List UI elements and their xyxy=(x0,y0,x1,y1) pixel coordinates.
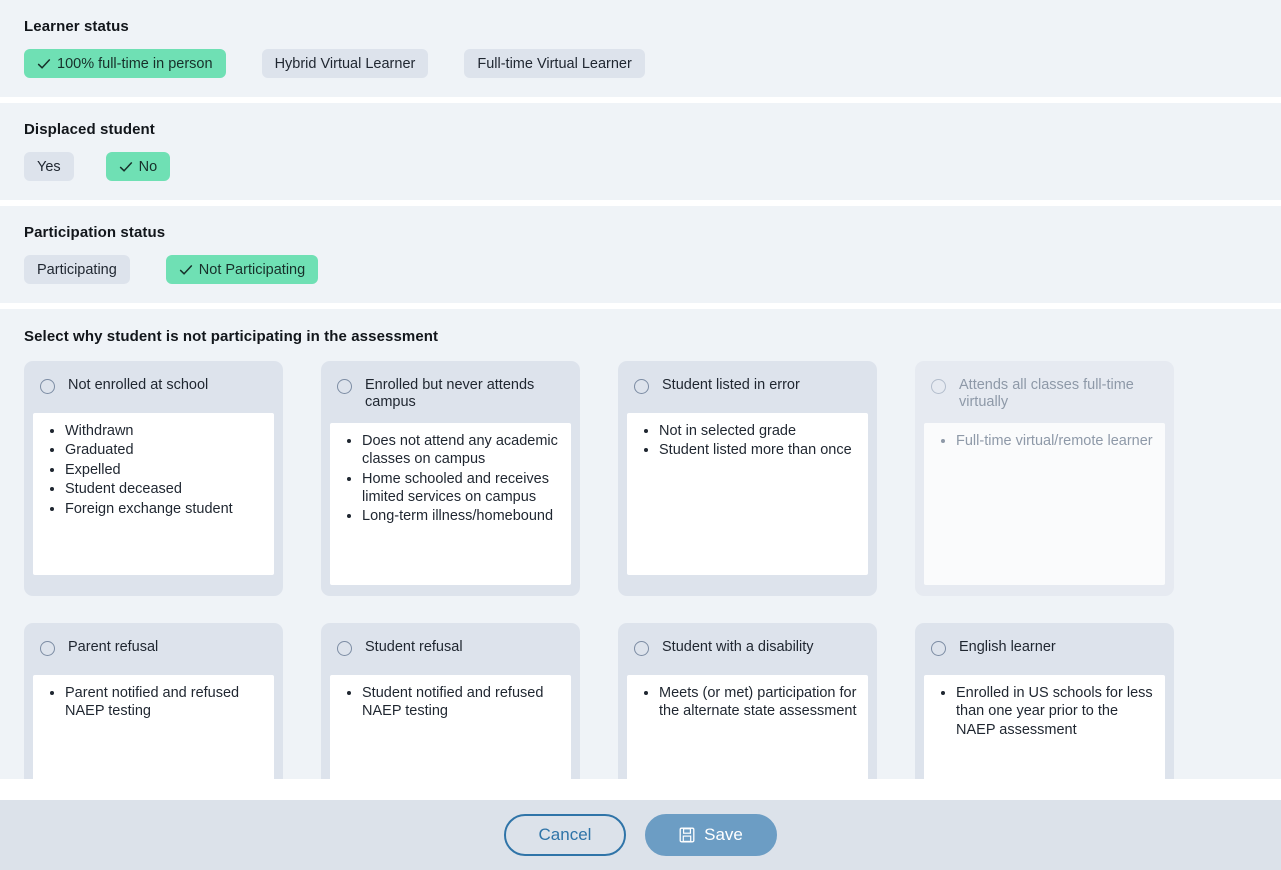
reason-card-body: Full-time virtual/remote learner xyxy=(924,423,1165,585)
learner_status-option-hybrid-virtual-learner[interactable]: Hybrid Virtual Learner xyxy=(262,49,429,78)
pill-label: Hybrid Virtual Learner xyxy=(275,56,416,72)
reason-card-header: Enrolled but never attends campus xyxy=(330,370,571,423)
participation_status-option-not-participating[interactable]: Not Participating xyxy=(166,255,318,284)
save-button[interactable]: Save xyxy=(645,814,777,856)
learner_status-option-100-full-time-in-person[interactable]: 100% full-time in person xyxy=(24,49,226,78)
reason-card-header: English learner xyxy=(924,632,1165,675)
learner-status-options: 100% full-time in personHybrid Virtual L… xyxy=(24,49,1257,78)
displaced-student-section: Displaced student YesNo xyxy=(0,103,1281,200)
list-item: Student notified and refused NAEP testin… xyxy=(362,684,561,721)
reason-card-body: Does not attend any academic classes on … xyxy=(330,423,571,585)
reason-card-label: Student listed in error xyxy=(662,377,800,394)
save-button-label: Save xyxy=(704,825,743,845)
reason-card[interactable]: Enrolled but never attends campusDoes no… xyxy=(321,361,580,596)
participation-form-page: Learner status 100% full-time in personH… xyxy=(0,0,1281,870)
reason-card-body: Parent notified and refused NAEP testing xyxy=(33,675,274,779)
reason-card[interactable]: Student refusalStudent notified and refu… xyxy=(321,623,580,779)
reason-card-body: Enrolled in US schools for less than one… xyxy=(924,675,1165,779)
radio-button-icon[interactable] xyxy=(634,641,649,656)
reason-card-body: Student notified and refused NAEP testin… xyxy=(330,675,571,779)
reason-card-header: Student refusal xyxy=(330,632,571,675)
reason-card: Attends all classes full-time virtuallyF… xyxy=(915,361,1174,596)
reason-card-grid: Not enrolled at schoolWithdrawnGraduated… xyxy=(24,361,1257,779)
reason-card[interactable]: Not enrolled at schoolWithdrawnGraduated… xyxy=(24,361,283,596)
reason-card-body: WithdrawnGraduatedExpelledStudent deceas… xyxy=(33,413,274,575)
pill-label: No xyxy=(139,159,158,175)
check-icon xyxy=(179,263,192,276)
reason-detail-list: Not in selected gradeStudent listed more… xyxy=(637,422,858,460)
displaced_student-option-yes[interactable]: Yes xyxy=(24,152,74,181)
learner-status-title: Learner status xyxy=(24,18,1257,35)
reason-card-header: Attends all classes full-time virtually xyxy=(924,370,1165,423)
participation-status-section: Participation status ParticipatingNot Pa… xyxy=(0,206,1281,303)
list-item: Expelled xyxy=(65,461,264,479)
learner_status-option-full-time-virtual-learner[interactable]: Full-time Virtual Learner xyxy=(464,49,644,78)
reasons-title: Select why student is not participating … xyxy=(24,328,1257,345)
check-icon xyxy=(119,160,132,173)
reason-card[interactable]: Student listed in errorNot in selected g… xyxy=(618,361,877,596)
list-item: Long-term illness/homebound xyxy=(362,507,561,525)
reason-card-label: Not enrolled at school xyxy=(68,377,208,394)
learner-status-section: Learner status 100% full-time in personH… xyxy=(0,0,1281,97)
list-item: Parent notified and refused NAEP testing xyxy=(65,684,264,721)
radio-button-icon[interactable] xyxy=(40,641,55,656)
reason-card-label: English learner xyxy=(959,639,1056,656)
reason-card-header: Not enrolled at school xyxy=(33,370,274,413)
check-icon xyxy=(37,57,50,70)
list-item: Meets (or met) participation for the alt… xyxy=(659,684,858,721)
reason-detail-list: Student notified and refused NAEP testin… xyxy=(340,684,561,721)
reason-card-label: Student refusal xyxy=(365,639,463,656)
reason-card[interactable]: Student with a disabilityMeets (or met) … xyxy=(618,623,877,779)
reason-card-header: Student with a disability xyxy=(627,632,868,675)
reason-card-label: Parent refusal xyxy=(68,639,158,656)
reason-card-header: Student listed in error xyxy=(627,370,868,413)
participation_status-option-participating[interactable]: Participating xyxy=(24,255,130,284)
displaced-student-options: YesNo xyxy=(24,152,1257,181)
pill-label: Not Participating xyxy=(199,262,305,278)
radio-button-icon[interactable] xyxy=(634,379,649,394)
non-participation-reasons-section: Select why student is not participating … xyxy=(0,309,1281,779)
reason-detail-list: WithdrawnGraduatedExpelledStudent deceas… xyxy=(43,422,264,518)
list-item: Student listed more than once xyxy=(659,441,858,459)
participation-status-options: ParticipatingNot Participating xyxy=(24,255,1257,284)
participation-status-title: Participation status xyxy=(24,224,1257,241)
reason-card-body: Meets (or met) participation for the alt… xyxy=(627,675,868,779)
form-action-bar: Cancel Save xyxy=(0,800,1281,870)
reason-card[interactable]: English learnerEnrolled in US schools fo… xyxy=(915,623,1174,779)
radio-button-icon[interactable] xyxy=(337,641,352,656)
reason-card-label: Student with a disability xyxy=(662,639,814,656)
radio-button-icon[interactable] xyxy=(337,379,352,394)
pill-label: Participating xyxy=(37,262,117,278)
cancel-button-label: Cancel xyxy=(539,825,592,845)
reason-detail-list: Does not attend any academic classes on … xyxy=(340,432,561,526)
reason-card-body: Not in selected gradeStudent listed more… xyxy=(627,413,868,575)
list-item: Withdrawn xyxy=(65,422,264,440)
reason-card-label: Enrolled but never attends campus xyxy=(365,377,567,412)
list-item: Not in selected grade xyxy=(659,422,858,440)
radio-button-icon[interactable] xyxy=(931,641,946,656)
reason-card-header: Parent refusal xyxy=(33,632,274,675)
list-item: Home schooled and receives limited servi… xyxy=(362,470,561,507)
reason-card-label: Attends all classes full-time virtually xyxy=(959,377,1161,412)
reason-detail-list: Parent notified and refused NAEP testing xyxy=(43,684,264,721)
reason-card[interactable]: Parent refusalParent notified and refuse… xyxy=(24,623,283,779)
list-item: Enrolled in US schools for less than one… xyxy=(956,684,1155,739)
list-item: Graduated xyxy=(65,441,264,459)
displaced-student-title: Displaced student xyxy=(24,121,1257,138)
pill-label: Full-time Virtual Learner xyxy=(477,56,631,72)
cancel-button[interactable]: Cancel xyxy=(504,814,626,856)
displaced_student-option-no[interactable]: No xyxy=(106,152,171,181)
list-item: Full-time virtual/remote learner xyxy=(956,432,1155,450)
pill-label: 100% full-time in person xyxy=(57,56,213,72)
reason-detail-list: Full-time virtual/remote learner xyxy=(934,432,1155,450)
list-item: Student deceased xyxy=(65,480,264,498)
radio-button-icon[interactable] xyxy=(40,379,55,394)
list-item: Foreign exchange student xyxy=(65,500,264,518)
reason-detail-list: Meets (or met) participation for the alt… xyxy=(637,684,858,721)
save-floppy-icon xyxy=(679,827,695,843)
list-item: Does not attend any academic classes on … xyxy=(362,432,561,469)
reason-detail-list: Enrolled in US schools for less than one… xyxy=(934,684,1155,739)
pill-label: Yes xyxy=(37,159,61,175)
radio-button-icon xyxy=(931,379,946,394)
